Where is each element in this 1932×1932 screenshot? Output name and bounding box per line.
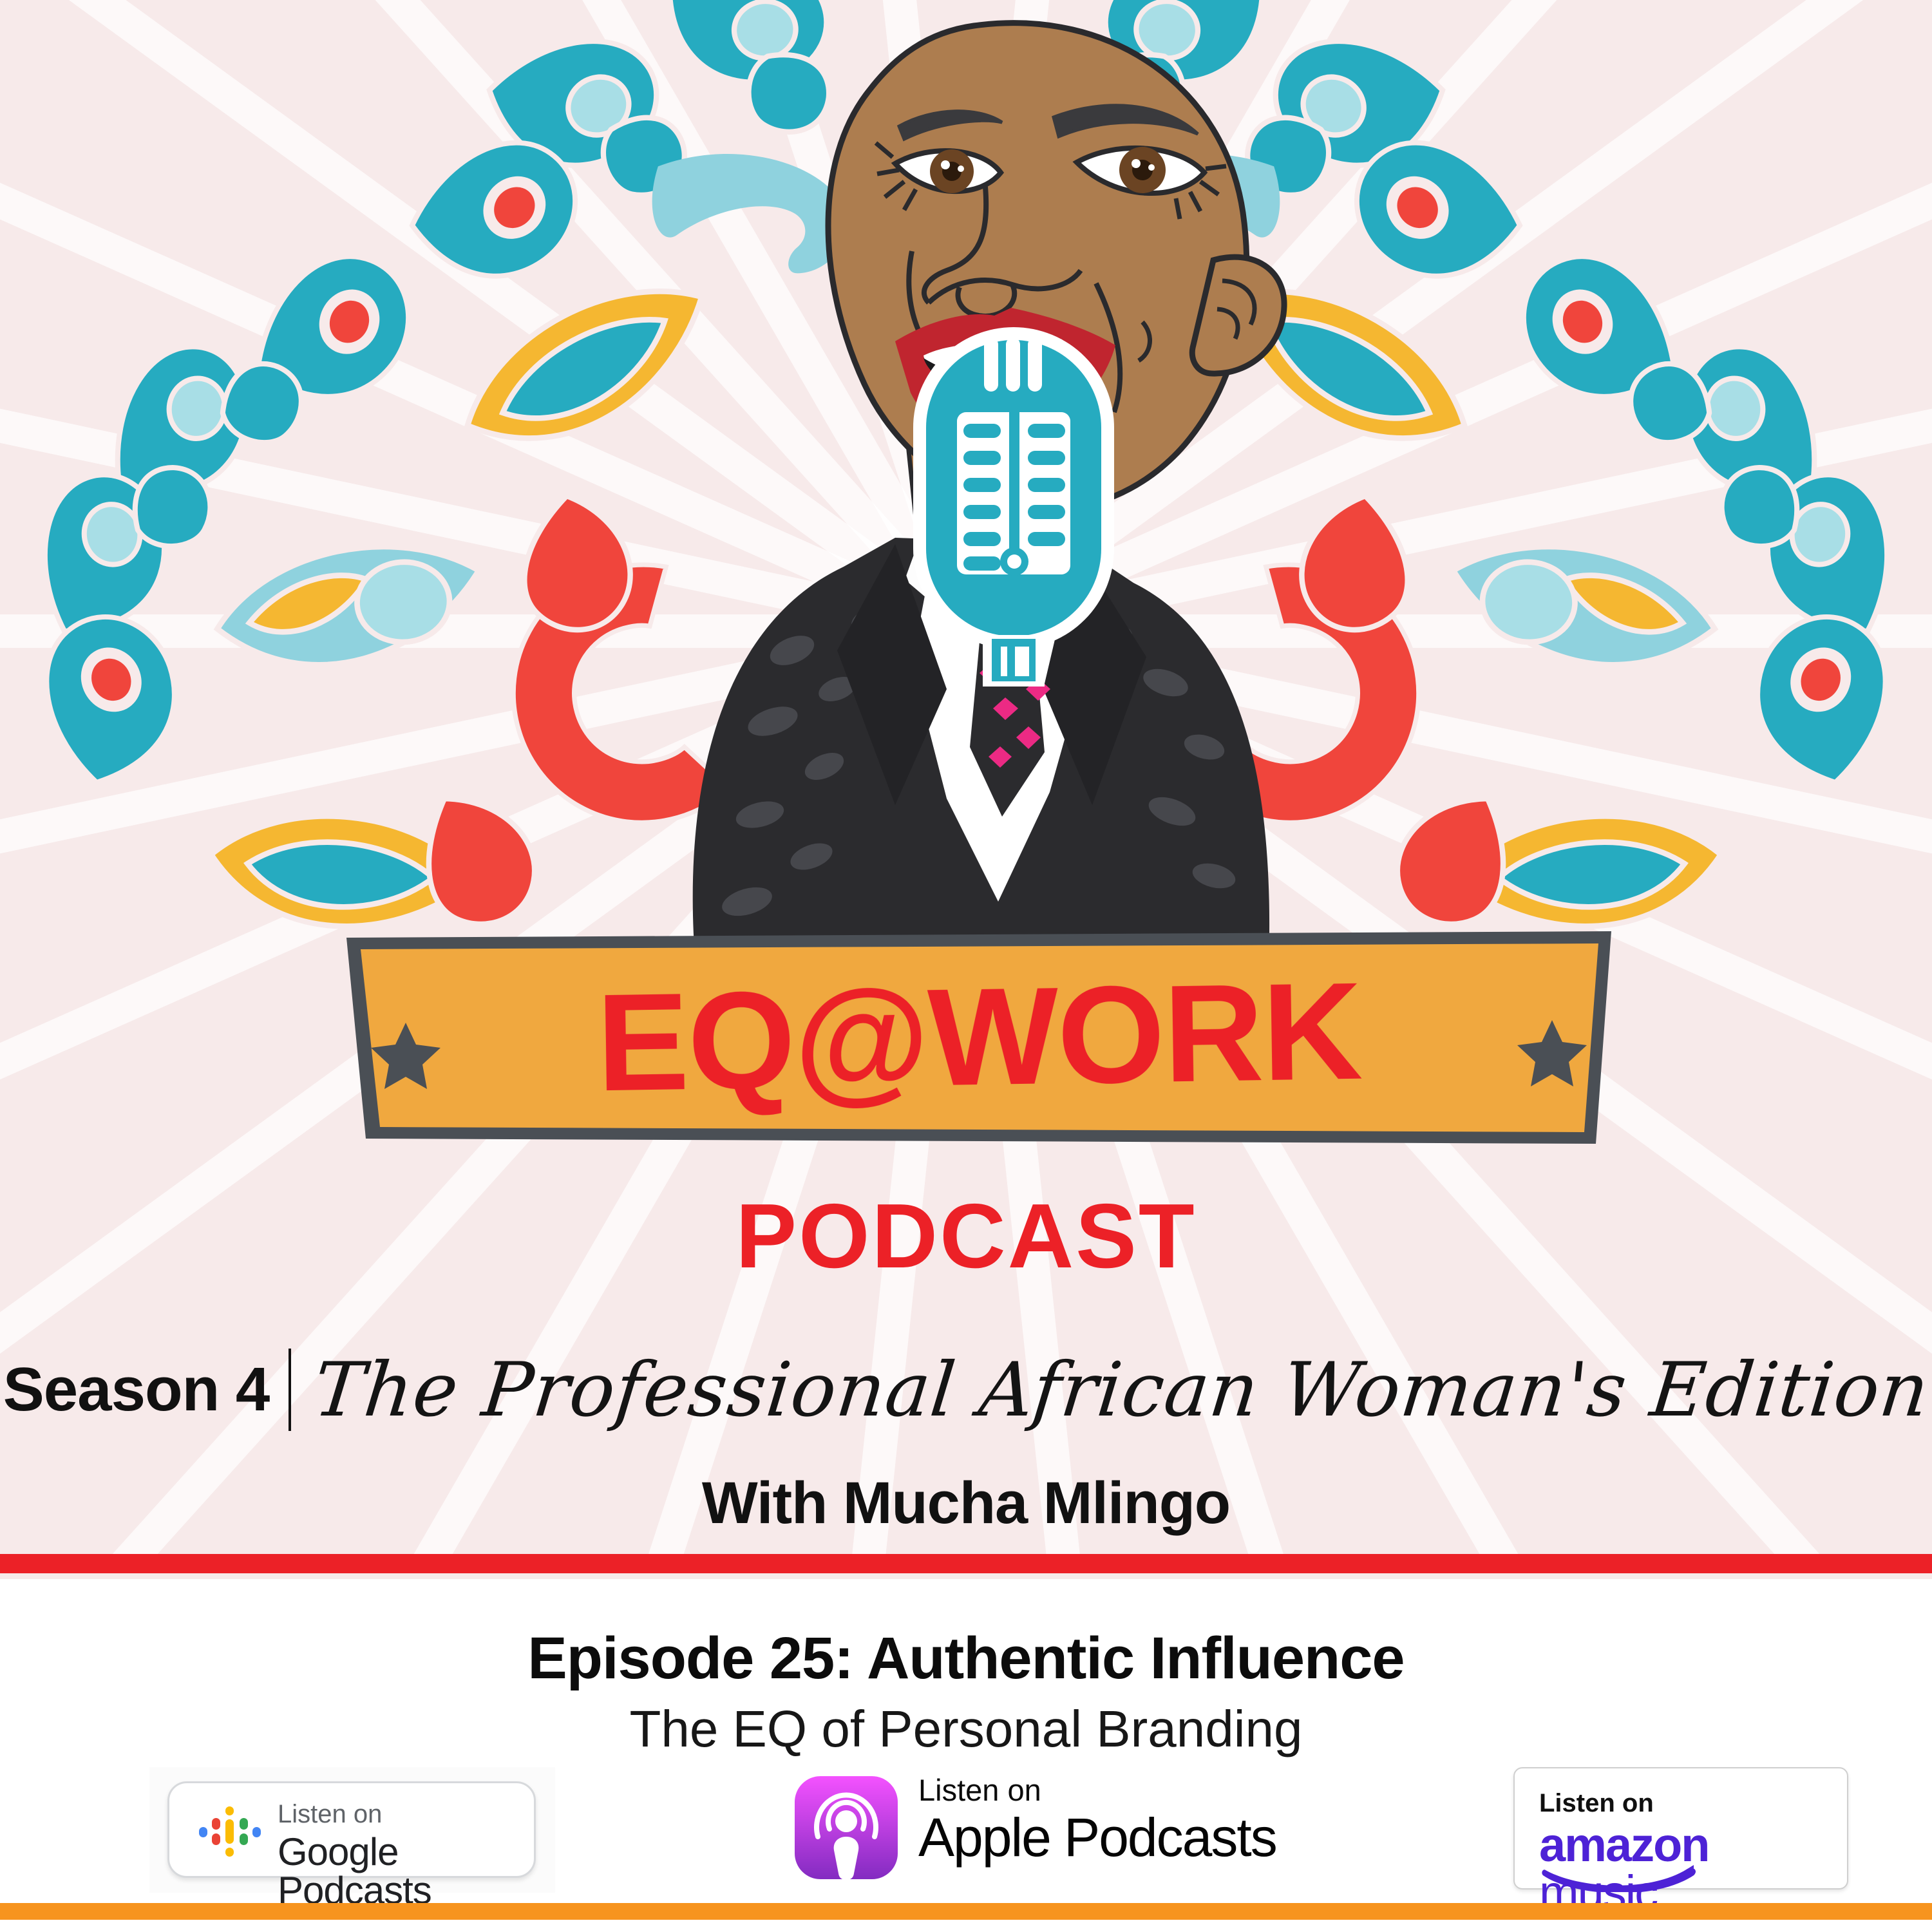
- google-podcasts-icon: [198, 1805, 262, 1858]
- season-divider-rule: [289, 1349, 291, 1431]
- apple-podcasts-icon: [792, 1774, 900, 1882]
- listen-on-apple-podcasts-badge[interactable]: Listen on Apple Podcasts: [792, 1767, 1294, 1889]
- listen-badges-row: Listen on Google Podcasts: [0, 1767, 1932, 1889]
- podcast-word: PODCAST: [0, 1184, 1932, 1289]
- artwork-panel: EQ@WORK PODCAST Season 4 The Professiona…: [0, 0, 1932, 1579]
- listen-on-google-podcasts-badge[interactable]: Listen on Google Podcasts: [149, 1767, 555, 1893]
- apple-brand-label: Apple Podcasts: [918, 1810, 1276, 1864]
- host-illustration: [535, 0, 1410, 966]
- amazon-music-wordmark: amazon music: [1539, 1821, 1810, 1880]
- amazon-badge-text: Listen on amazon music: [1539, 1790, 1810, 1880]
- google-brand-label: Google Podcasts: [278, 1833, 534, 1910]
- episode-subtitle: The EQ of Personal Branding: [0, 1700, 1932, 1759]
- listen-on-amazon-music-badge[interactable]: Listen on amazon music: [1513, 1767, 1848, 1889]
- footer-orange-strip: [0, 1903, 1932, 1920]
- episode-title: Episode 25: Authentic Influence: [0, 1625, 1932, 1692]
- amazon-smile-icon: [1542, 1861, 1703, 1892]
- google-badge-pill[interactable]: Listen on Google Podcasts: [167, 1781, 536, 1878]
- pink-divider-strip: [0, 1573, 1932, 1579]
- season-line: Season 4 The Professional African Woman'…: [0, 1332, 1932, 1448]
- episode-panel: Episode 25: Authentic Influence The EQ o…: [0, 1603, 1932, 1932]
- google-badge-text: Listen on Google Podcasts: [278, 1801, 534, 1910]
- apple-badge-text: Listen on Apple Podcasts: [918, 1775, 1276, 1864]
- amazon-listen-label: Listen on: [1539, 1790, 1810, 1816]
- red-divider: [0, 1554, 1932, 1573]
- banner-wordmark: EQ@WORK: [333, 916, 1624, 1161]
- google-listen-label: Listen on: [278, 1801, 534, 1827]
- podcast-cover-art: EQ@WORK PODCAST Season 4 The Professiona…: [0, 0, 1932, 1932]
- season-edition-label: The Professional African Woman's Edition: [310, 1347, 1932, 1434]
- apple-listen-label: Listen on: [918, 1775, 1276, 1805]
- season-label: Season 4: [3, 1354, 270, 1425]
- host-name: With Mucha Mlingo: [0, 1470, 1932, 1537]
- eq-at-work-banner: EQ@WORK: [335, 926, 1623, 1151]
